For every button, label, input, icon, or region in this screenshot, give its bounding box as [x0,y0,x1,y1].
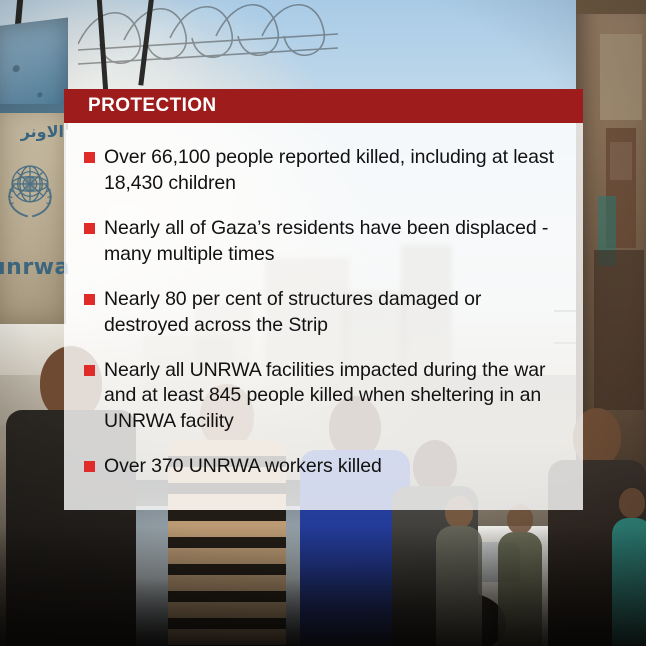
statistics-list: Over 66,100 people reported killed, incl… [84,145,567,480]
person-silhouette [612,488,646,646]
list-item: Over 370 UNRWA workers killed [84,454,567,480]
protection-info-panel: PROTECTION Over 66,100 people reported k… [64,89,583,510]
bullet-square-icon [84,294,95,305]
bullet-square-icon [84,461,95,472]
list-item-text: Nearly all of Gaza’s residents have been… [104,216,567,268]
list-item: Nearly all of Gaza’s residents have been… [84,216,567,268]
list-item: Nearly 80 per cent of structures damaged… [84,287,567,339]
panel-title: PROTECTION [88,95,217,117]
list-item: Nearly all UNRWA facilities impacted dur… [84,358,567,436]
list-item-text: Over 66,100 people reported killed, incl… [104,145,567,197]
panel-body: Over 66,100 people reported killed, incl… [64,123,583,510]
unrwa-wordmark: unrwa [0,255,70,280]
razor-wire [78,0,338,97]
list-item-text: Nearly all UNRWA facilities impacted dur… [104,358,567,436]
panel-header: PROTECTION [64,89,583,123]
person-silhouette [498,504,542,646]
bullet-square-icon [84,152,95,163]
person-silhouette [436,496,482,646]
list-item-text: Nearly 80 per cent of structures damaged… [104,287,567,339]
list-item-text: Over 370 UNRWA workers killed [104,454,382,480]
bullet-square-icon [84,365,95,376]
unrwa-arabic-text: الاونر [21,122,64,141]
bullet-square-icon [84,223,95,234]
infographic-canvas: الاونر [0,0,646,646]
building-slab [600,34,642,120]
list-item: Over 66,100 people reported killed, incl… [84,145,567,197]
building-slab [576,0,646,14]
un-emblem-icon [2,152,58,226]
